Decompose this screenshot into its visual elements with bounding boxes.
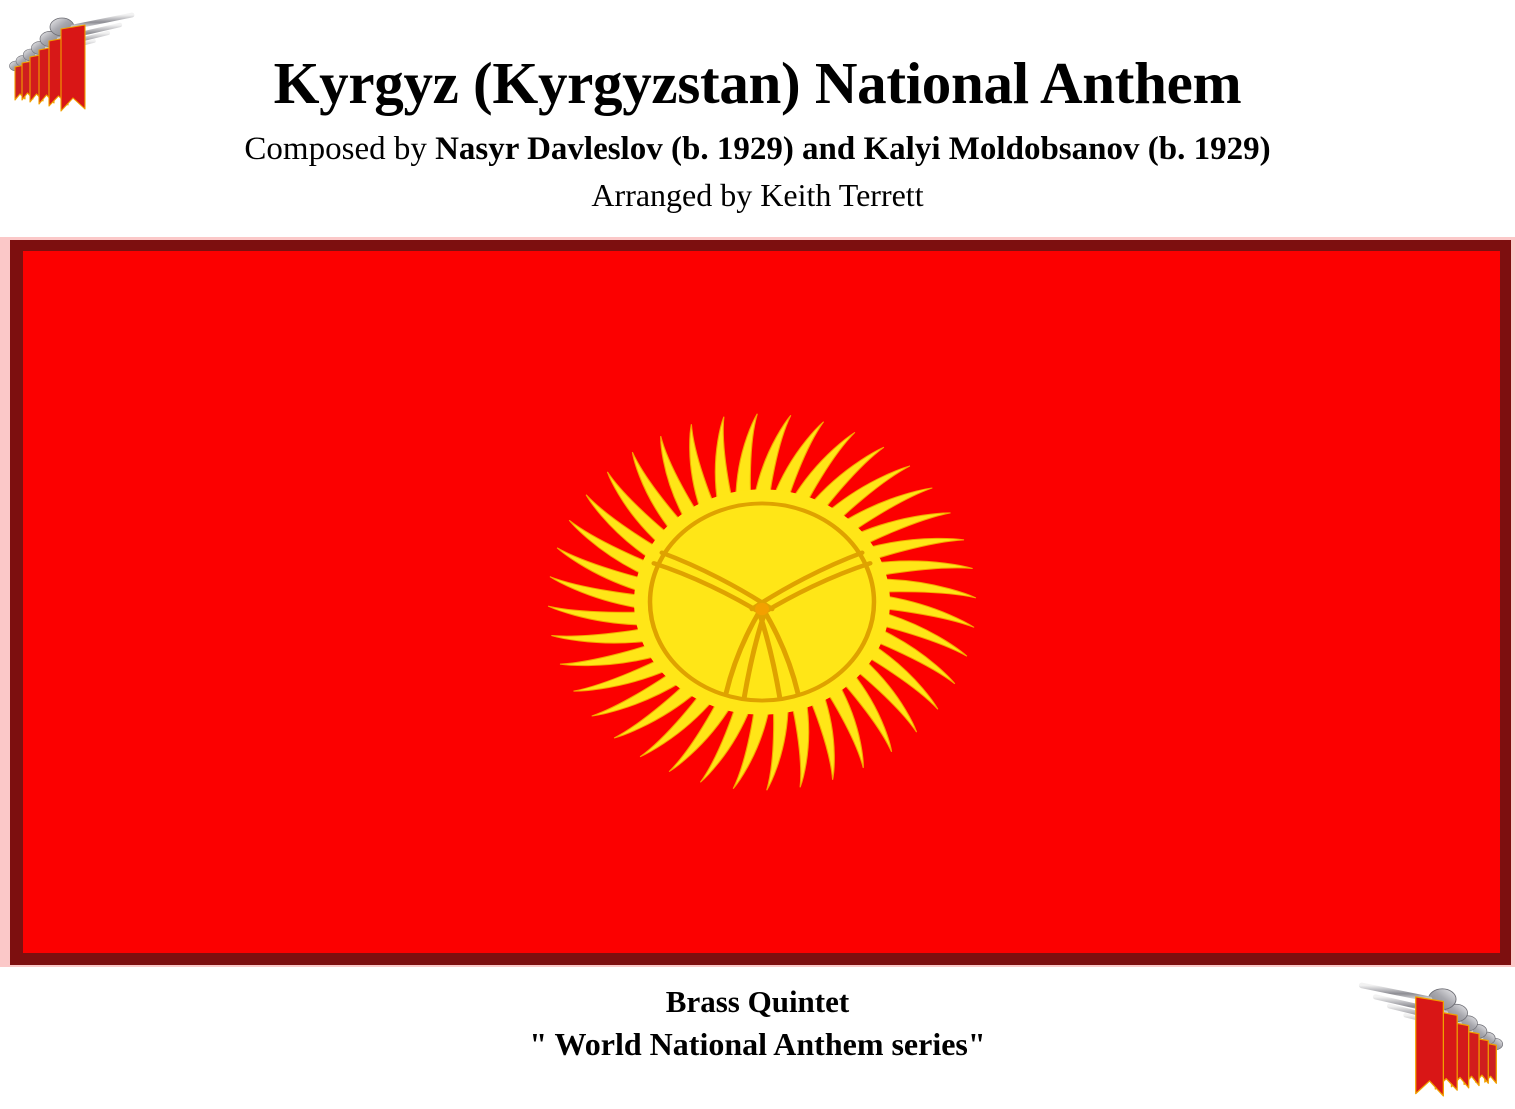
series-label: " World National Anthem series" [0, 1017, 1515, 1060]
fanfare-trumpets-icon [1357, 975, 1509, 1063]
instrumentation-label: Brass Quintet [0, 967, 1515, 1017]
page-title: Kyrgyz (Kyrgyzstan) National Anthem [0, 0, 1515, 113]
arranger-line: Arranged by Keith Terrett [0, 166, 1515, 211]
footer-text: Brass Quintet " World National Anthem se… [0, 967, 1515, 1060]
composer-prefix: Composed by [244, 131, 435, 167]
footer: Brass Quintet " World National Anthem se… [0, 967, 1515, 1071]
title-block: Kyrgyz (Kyrgyzstan) National Anthem Comp… [0, 0, 1515, 211]
composer-line: Composed by Nasyr Davleslov (b. 1929) an… [0, 113, 1515, 166]
flag-of-kyrgyzstan [0, 237, 1515, 967]
composer-names: Nasyr Davleslov (b. 1929) and Kalyi Mold… [435, 131, 1270, 167]
sun-with-tunduk-icon [482, 372, 1042, 832]
header: Kyrgyz (Kyrgyzstan) National Anthem Comp… [0, 0, 1515, 237]
flag-red-field [23, 251, 1500, 953]
